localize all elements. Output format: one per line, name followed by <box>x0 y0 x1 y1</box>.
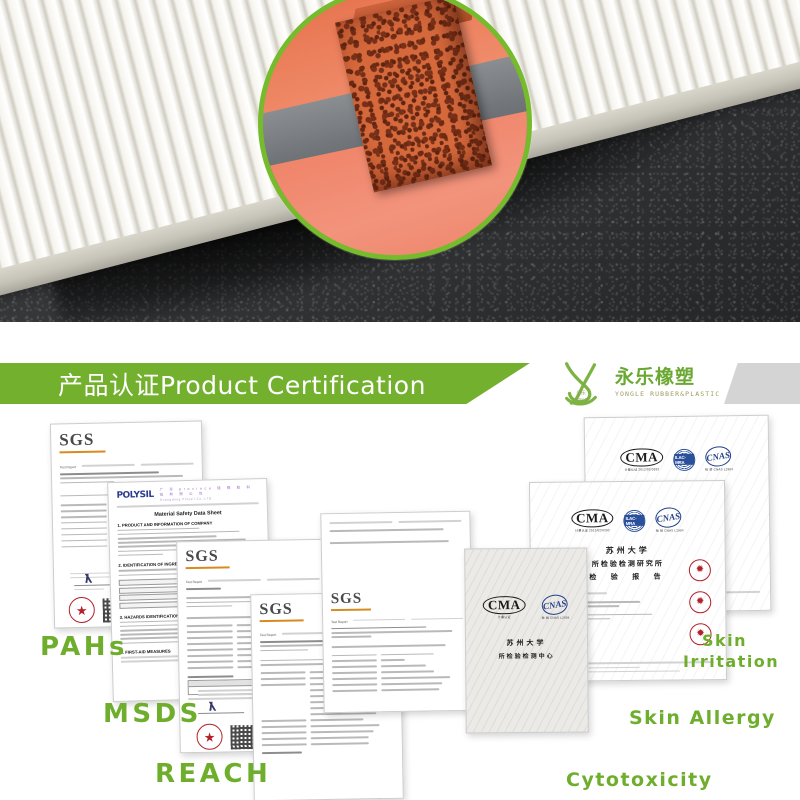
certificate-sgs-report-4[interactable]: SGS Test Report <box>320 511 473 714</box>
tag-reach: REACH <box>155 760 271 788</box>
ilac-label: ILAC-MRA <box>674 454 694 465</box>
tag-msds: MSDS <box>103 700 202 728</box>
product-certification-page: 产品认证Product Certification 永乐 YONGLE 永乐橡塑… <box>0 0 800 800</box>
magnifier-circle <box>258 0 532 260</box>
cnas-badge: CNAS <box>654 506 683 530</box>
msds-section-1: 1. PRODUCT AND INFORMATION OF COMPANY <box>117 519 259 528</box>
cma-caption: 计量认证 2012/02/0393 <box>621 467 664 472</box>
banner-gray-tab <box>724 363 800 404</box>
tag-skin-irritation-line1: Skin <box>702 632 747 649</box>
cma-caption: 计量认证 <box>483 615 526 619</box>
doc-title: Test Report <box>331 620 347 624</box>
red-seal-stamp: ✹ <box>689 559 711 581</box>
polysil-logo: POLYSIL <box>116 490 153 501</box>
qr-code <box>230 725 254 749</box>
hero-product-photo <box>0 0 800 322</box>
msds-title: Material Safety Data Sheet <box>117 509 259 519</box>
cert-org-dept: 所检验检测中心 <box>474 651 579 661</box>
doc-body: CMA 计量认证 CNAS 检 验 CNAS L2904 苏州大学 所检验检测中… <box>465 548 588 732</box>
tag-skin-irritation-line2: Irritation <box>683 653 779 670</box>
authorized-signature <box>198 701 228 711</box>
svg-text:YONGLE: YONGLE <box>575 397 587 401</box>
tag-skin-allergy: Skin Allergy <box>629 708 776 729</box>
cma-badge: CMA <box>571 509 614 527</box>
page-title: 产品认证Product Certification <box>0 366 426 402</box>
cnas-badge: CNAS <box>540 593 569 617</box>
sgs-underline <box>186 566 230 569</box>
certificate-collage: SGS Test Report <box>0 408 800 800</box>
cnas-caption: 检 验 CNAS L2904 <box>705 467 733 471</box>
section-banner: 产品认证Product Certification <box>0 363 530 404</box>
red-seal-stamp: ✹ <box>689 591 711 613</box>
cert-org-name: 苏州大学 <box>474 638 579 649</box>
sgs-underline <box>331 608 371 611</box>
cnas-badge: CNAS <box>704 445 733 469</box>
doc-body: SGS Test Report <box>321 512 472 713</box>
doc-title: Test Report <box>260 633 276 637</box>
svg-text:永乐: 永乐 <box>576 390 586 397</box>
logo-english-name: YONGLE RUBBER&PLASTIC <box>615 390 720 398</box>
authorized-signature <box>74 573 104 583</box>
sgs-logo: SGS <box>59 428 193 451</box>
doc-title: Test Report <box>60 465 76 469</box>
ilac-label: ILAC-MRA <box>625 515 645 526</box>
cnas-caption: 检 验 CNAS L2904 <box>656 528 684 532</box>
cnas-caption: 检 验 CNAS L2904 <box>542 616 570 620</box>
doc-title: Test Report <box>186 580 202 584</box>
ilac-mra-badge: ILAC-MRA <box>624 509 646 531</box>
red-seal-stamp: ★ <box>69 597 96 624</box>
ilac-mra-badge: ILAC-MRA <box>673 448 695 470</box>
certificate-cma-cnas-3[interactable]: CMA 计量认证 CNAS 检 验 CNAS L2904 苏州大学 所检验检测中… <box>464 547 589 733</box>
tag-cytotoxicity: Cytotoxicity <box>566 770 713 791</box>
company-logo[interactable]: 永乐 YONGLE 永乐橡塑 YONGLE RUBBER&PLASTIC <box>558 358 718 408</box>
sgs-underline <box>260 619 304 622</box>
cma-badge: CMA <box>483 596 526 614</box>
sgs-logo: SGS <box>331 588 463 607</box>
yongle-y-leaf-mark: 永乐 YONGLE <box>558 359 604 407</box>
sgs-underline <box>59 450 105 453</box>
sgs-logo: SGS <box>185 546 319 566</box>
tag-pahs: PAHs <box>40 633 128 661</box>
cma-badge: CMA <box>620 448 663 467</box>
cma-caption: 计量认证 2012/02/0393 <box>571 528 614 532</box>
logo-text-block: 永乐橡塑 YONGLE RUBBER&PLASTIC <box>615 368 720 398</box>
logo-chinese-name: 永乐橡塑 <box>615 368 720 388</box>
